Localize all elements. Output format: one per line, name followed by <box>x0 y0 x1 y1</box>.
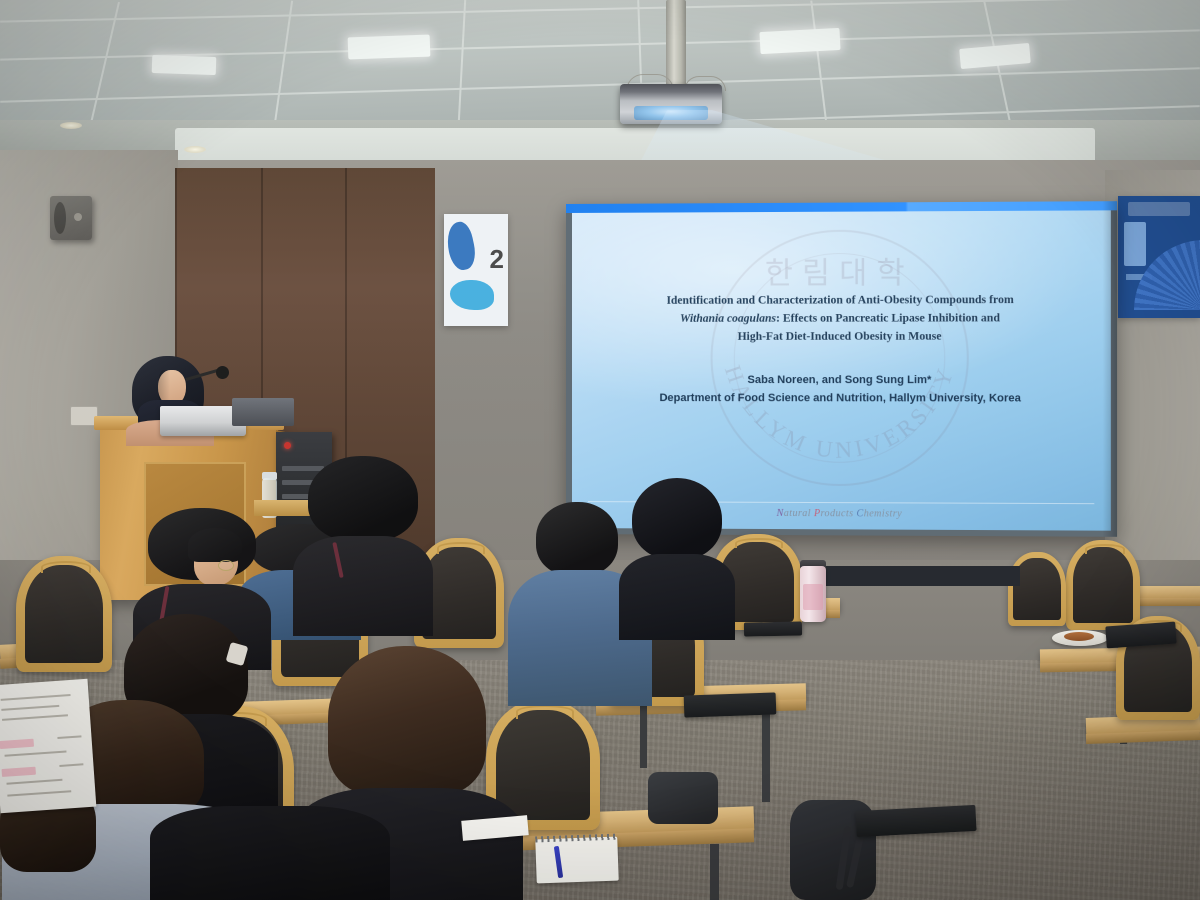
chair-handle-slot <box>735 538 782 549</box>
laptop-on-desk-center <box>684 692 777 717</box>
chair-handle-slot <box>516 705 575 719</box>
chair-upholstery <box>1013 558 1061 620</box>
chair-upholstery <box>496 710 589 819</box>
chair-empty-far-right[interactable] <box>1008 552 1066 626</box>
ceiling-light-panel <box>152 55 217 75</box>
wall-poster-right <box>1118 196 1200 318</box>
projector-lens <box>634 106 708 120</box>
spiral-notebook <box>535 837 618 884</box>
slide-title-line-1: Identification and Characterization of A… <box>666 294 1013 307</box>
footer-letter-p: P <box>814 508 821 519</box>
attendee-head <box>308 456 418 542</box>
attendee-center-dark-hair <box>632 478 722 618</box>
table-leg <box>640 706 647 768</box>
slide-affiliation: Department of Food Science and Nutrition… <box>659 392 1020 404</box>
slide-authors: Saba Noreen, and Song Sung Lim* <box>747 374 931 386</box>
footer-word-products: roducts <box>821 508 857 519</box>
recessed-downlight <box>60 122 82 129</box>
ceiling-projector <box>620 84 722 124</box>
power-led-indicator <box>284 442 291 449</box>
conference-room-photo: 2 한림대학 HALLYM UNIVERSITY Identification … <box>0 0 1200 900</box>
chair-handle-slot <box>437 542 484 554</box>
ceiling-light-panel <box>348 35 431 60</box>
slide-title-species: Withania coagulans <box>680 312 776 324</box>
slide-title: Identification and Characterization of A… <box>572 292 1111 347</box>
program-highlight-row <box>2 767 36 777</box>
chair-handle-slot <box>1085 544 1125 554</box>
table-leg <box>762 706 770 802</box>
chair-row1-left[interactable] <box>16 556 112 672</box>
university-seal-watermark: 한림대학 HALLYM UNIVERSITY <box>711 229 969 486</box>
footer-letter-c: C <box>856 508 863 519</box>
slide-authors-block: Saba Noreen, and Song Sung Lim* Departme… <box>572 371 1111 408</box>
footer-word-natural: atural <box>784 508 814 519</box>
attendee-torso <box>619 554 734 640</box>
speaker-driver <box>74 213 82 221</box>
speaker-grill <box>54 202 66 234</box>
slide-title-line-3: High-Fat Diet-Induced Obesity in Mouse <box>738 330 942 342</box>
poster-korean-text <box>1124 222 1146 266</box>
attendee-center-left <box>308 456 418 626</box>
chair-handle-slot <box>41 561 91 573</box>
seal-korean-text: 한림대학 <box>765 248 914 293</box>
attendee-torso <box>150 806 390 900</box>
program-highlight-row <box>0 739 34 749</box>
poster-header-band <box>1128 202 1190 216</box>
attendee-torso <box>293 536 434 636</box>
footer-word-chemistry: hemistry <box>864 508 902 519</box>
printed-program-sheet <box>0 679 96 813</box>
shoulder-bag <box>648 772 718 824</box>
recessed-downlight <box>184 146 206 153</box>
projector-mount-pole <box>666 0 686 86</box>
poster-graphic-blob <box>444 220 479 272</box>
tablet-on-desk <box>744 621 802 636</box>
attendee-head <box>632 478 722 560</box>
chair-upholstery <box>25 565 104 662</box>
wall-speaker-icon <box>50 196 92 240</box>
attendee-head <box>328 646 486 796</box>
poster-number: 2 <box>490 244 504 275</box>
eyeglasses-icon <box>218 560 234 571</box>
ceiling-light-panel <box>759 28 840 54</box>
attendee-foreground-bottom <box>150 806 390 900</box>
wall-poster-left: 2 <box>444 214 508 326</box>
slide-title-line-2-rest: : Effects on Pancreatic Lipase Inhibitio… <box>776 312 1000 324</box>
microphone-icon <box>216 366 229 379</box>
table-leg <box>710 844 719 900</box>
snack-food <box>1064 632 1094 641</box>
poster-graphic-blob <box>450 280 494 310</box>
screen-edge-shadow <box>1103 201 1117 537</box>
attendee-head <box>536 502 618 576</box>
podium-av-equipment <box>232 398 294 426</box>
tumbler-label <box>803 584 823 610</box>
chair-upholstery <box>1073 547 1134 623</box>
attendee-hair <box>188 528 242 562</box>
chair-upholstery <box>422 547 496 639</box>
